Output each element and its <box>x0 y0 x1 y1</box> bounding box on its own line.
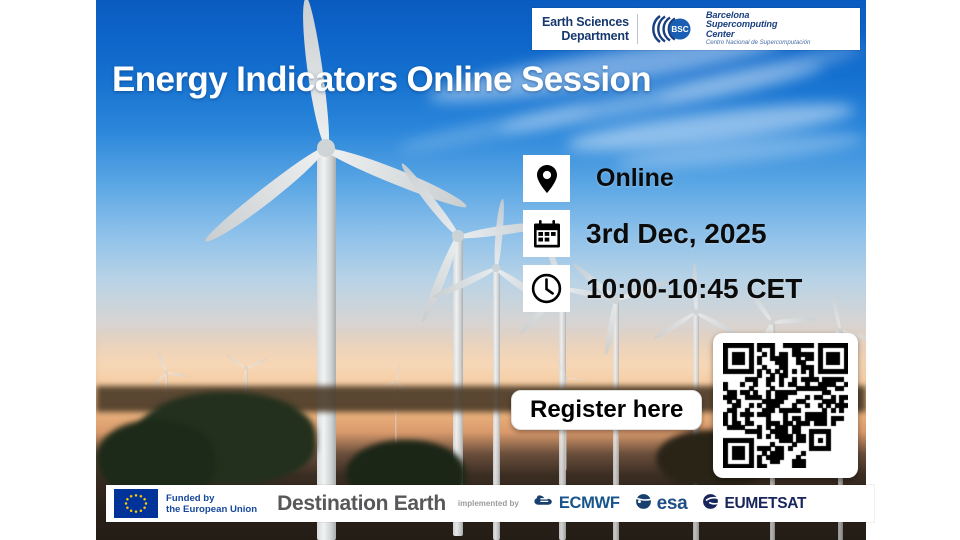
time-label: 10:00-10:45 CET <box>586 273 802 305</box>
department-line-2: Department <box>542 29 629 43</box>
ecmwf-icon <box>533 493 555 514</box>
department-line-1: Earth Sciences <box>542 15 629 29</box>
registration-qr-code[interactable] <box>713 333 858 478</box>
bsc-wordmark: Barcelona Supercomputing Center Centro N… <box>706 11 811 47</box>
detail-row-location: Online <box>523 155 802 202</box>
esa-label: esa <box>657 493 688 515</box>
destination-earth-wordmark: Destination Earth <box>277 492 446 516</box>
bsc-logo: BSC Barcelona Supercomputing Center Cent… <box>638 11 811 47</box>
qr-canvas[interactable] <box>723 343 848 468</box>
earth-sciences-department-logo: Earth Sciences Department <box>532 15 637 43</box>
svg-text:BSC: BSC <box>671 25 688 34</box>
turbine-hub <box>164 370 168 374</box>
location-pin-icon <box>523 155 570 202</box>
turbine-hub <box>564 376 568 380</box>
bsc-line-3: Center <box>706 30 811 39</box>
event-poster: Earth Sciences Department BSC Barcelo <box>0 0 960 540</box>
date-label: 3rd Dec, 2025 <box>586 218 767 250</box>
detail-row-date: 3rd Dec, 2025 <box>523 210 802 257</box>
funded-by-text: Funded by the European Union <box>166 493 257 515</box>
ecmwf-logo: ECMWF <box>533 493 620 514</box>
esa-logo: esa <box>634 493 688 515</box>
event-details: Online 3rd Dec, 2025 <box>523 155 802 312</box>
clock-icon <box>523 265 570 312</box>
header-logo-box: Earth Sciences Department BSC Barcelo <box>532 8 860 50</box>
european-union-flag <box>114 489 158 518</box>
eumetsat-icon <box>701 493 720 515</box>
eumetsat-logo: EUMETSAT <box>701 493 806 515</box>
implemented-by-text: implemented by <box>458 499 519 508</box>
funding-footer: Funded by the European Union Destination… <box>106 485 874 522</box>
eumetsat-label: EUMETSAT <box>724 495 806 513</box>
register-button[interactable]: Register here <box>511 390 702 430</box>
esa-icon <box>634 493 653 515</box>
turbine-hub <box>838 328 843 333</box>
funded-line-2: the European Union <box>166 504 257 515</box>
turbine-hub <box>452 230 463 241</box>
turbine-hub <box>244 366 248 370</box>
bsc-subtitle: Centro Nacional de Supercomputación <box>706 39 811 47</box>
funded-line-1: Funded by <box>166 493 257 504</box>
detail-row-time: 10:00-10:45 CET <box>523 265 802 312</box>
turbine-hub <box>394 380 398 384</box>
bsc-mark-icon: BSC <box>647 13 699 45</box>
poster-title: Energy Indicators Online Session <box>112 60 651 100</box>
location-label: Online <box>596 164 674 193</box>
calendar-icon <box>523 210 570 257</box>
ecmwf-label: ECMWF <box>559 494 620 513</box>
